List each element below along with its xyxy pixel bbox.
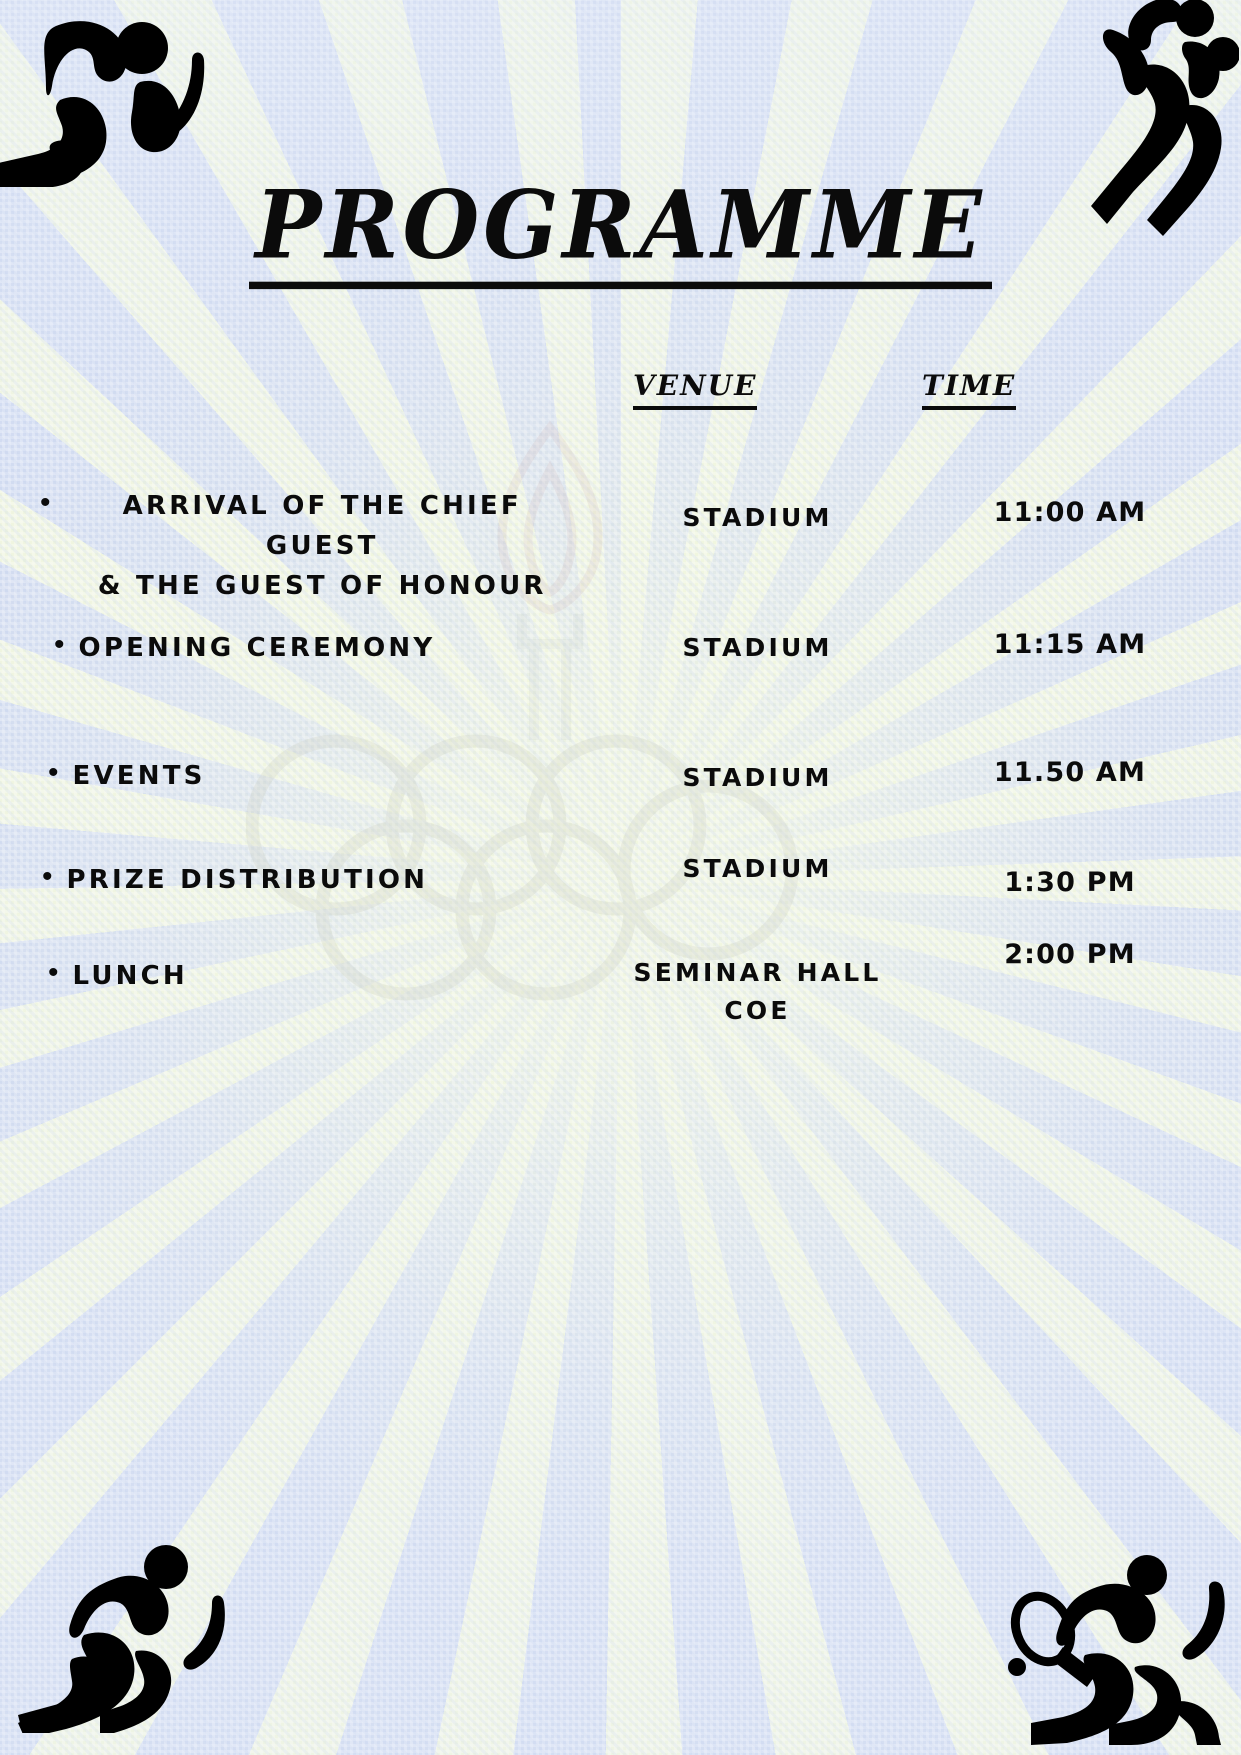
cell-venue: STADIUM (590, 736, 925, 797)
column-header-time: TIME (922, 358, 1016, 410)
table-row: • PRIZE DISTRIBUTION STADIUM 1:30 PM (0, 838, 1241, 936)
time-label: 1:30 PM (1004, 864, 1136, 902)
cell-item: • PRIZE DISTRIBUTION (0, 838, 590, 900)
bullet-icon: • (48, 956, 59, 990)
cell-venue: STADIUM (590, 838, 925, 888)
table-row: • ARRIVAL OF THE CHIEF GUEST & THE GUEST… (0, 466, 1241, 606)
cell-item: • LUNCH (0, 936, 590, 996)
venue-label: STADIUM (682, 759, 832, 797)
cell-item: • EVENTS (0, 736, 590, 796)
tennis-player-icon (1001, 1555, 1231, 1745)
venue-label: SEMINAR HALL COE (633, 954, 881, 1030)
item-label: OPENING CEREMONY (79, 628, 436, 668)
time-label: 11:00 AM (994, 494, 1147, 532)
time-label: 11.50 AM (994, 754, 1146, 792)
item-label: PRIZE DISTRIBUTION (67, 860, 429, 900)
bullet-icon: • (40, 486, 51, 520)
cell-item: • ARRIVAL OF THE CHIEF GUEST & THE GUEST… (0, 466, 590, 606)
item-label-line1: ARRIVAL OF THE CHIEF GUEST (123, 491, 522, 561)
cell-item: • OPENING CEREMONY (0, 606, 590, 668)
cell-time: 11:00 AM (925, 466, 1225, 532)
bullet-icon: • (54, 628, 65, 662)
cell-time: 2:00 PM (925, 936, 1225, 974)
bullet-icon: • (48, 756, 59, 790)
cell-time: 1:30 PM (925, 838, 1225, 902)
cell-venue: STADIUM (590, 606, 925, 667)
time-label: 11:15 AM (994, 626, 1147, 664)
bullet-icon: • (42, 860, 53, 894)
sprinting-athlete-icon (18, 1543, 233, 1733)
venue-label-line1: SEMINAR HALL (633, 958, 881, 987)
table-row: • OPENING CEREMONY STADIUM 11:15 AM (0, 606, 1241, 736)
cell-time: 11:15 AM (925, 606, 1225, 664)
item-label: EVENTS (73, 756, 206, 796)
programme-poster: PROGRAMME VENUE TIME • ARRIVAL OF THE CH… (0, 0, 1241, 1755)
time-label: 2:00 PM (1004, 936, 1136, 974)
cell-venue: STADIUM (590, 466, 925, 537)
venue-label: STADIUM (682, 850, 832, 888)
cell-time: 11.50 AM (925, 736, 1225, 792)
cell-venue: SEMINAR HALL COE (590, 936, 925, 1030)
venue-label: STADIUM (682, 499, 832, 537)
column-header-venue: VENUE (633, 358, 757, 410)
table-row: • EVENTS STADIUM 11.50 AM (0, 736, 1241, 838)
venue-label: STADIUM (682, 629, 832, 667)
item-label: ARRIVAL OF THE CHIEF GUEST & THE GUEST O… (65, 486, 580, 606)
schedule-table: • ARRIVAL OF THE CHIEF GUEST & THE GUEST… (0, 466, 1241, 1046)
item-label: LUNCH (73, 956, 188, 996)
page-title: PROGRAMME (249, 144, 991, 289)
table-row: • LUNCH SEMINAR HALL COE 2:00 PM (0, 936, 1241, 1046)
page-title-wrapper: PROGRAMME (0, 148, 1241, 285)
venue-label-line2: COE (724, 996, 790, 1025)
item-label-line2: & THE GUEST OF HONOUR (98, 571, 547, 601)
